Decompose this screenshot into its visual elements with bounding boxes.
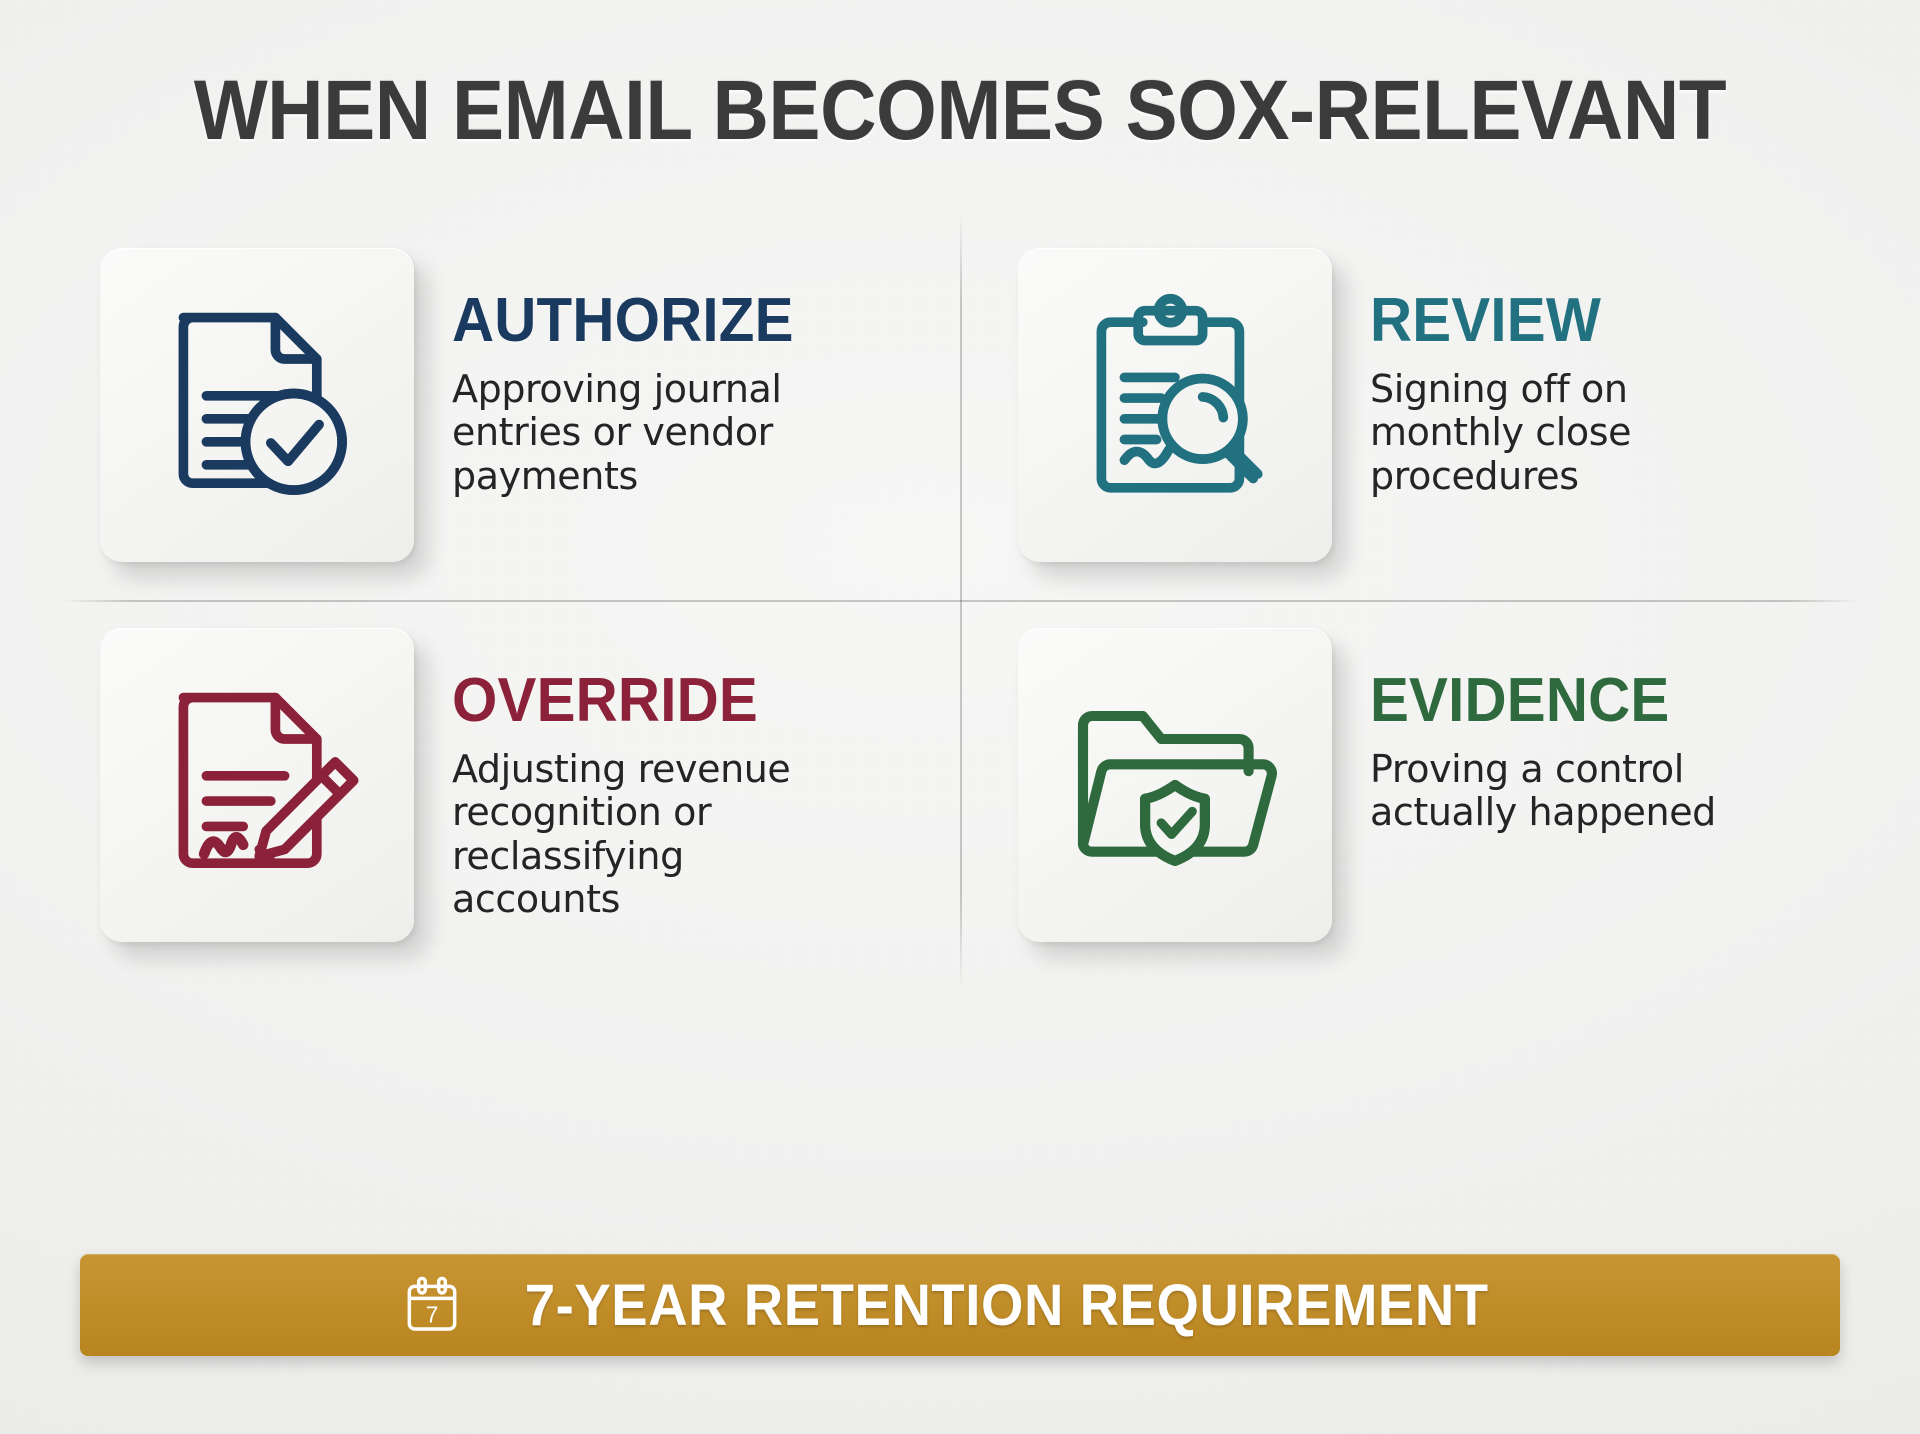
calendar-icon: 7 <box>400 1273 464 1337</box>
description-evidence: Proving a control actually happened <box>1370 748 1752 835</box>
svg-text:7: 7 <box>426 1301 439 1327</box>
icon-tile-authorize <box>100 248 414 562</box>
page-title: WHEN EMAIL BECOMES SOX-RELEVANT <box>67 62 1853 159</box>
folder-shield-check-icon <box>1060 670 1290 900</box>
quadrant-override: OVERRIDE Adjusting revenue recognition o… <box>70 600 960 980</box>
quadrant-evidence: EVIDENCE Proving a control actually happ… <box>960 600 1850 980</box>
icon-tile-override <box>100 628 414 942</box>
retention-banner: 7 7-YEAR RETENTION REQUIREMENT <box>80 1254 1840 1356</box>
quadrant-grid: AUTHORIZE Approving journal entries or v… <box>70 220 1850 980</box>
document-check-icon <box>142 290 372 520</box>
text-block-evidence: EVIDENCE Proving a control actually happ… <box>1332 628 1752 835</box>
quadrant-review: REVIEW Signing off on monthly close proc… <box>960 220 1850 600</box>
document-pencil-signature-icon <box>142 670 372 900</box>
text-block-authorize: AUTHORIZE Approving journal entries or v… <box>414 248 834 498</box>
description-override: Adjusting revenue recognition or reclass… <box>452 748 834 921</box>
clipboard-magnifier-icon <box>1060 290 1290 520</box>
icon-tile-review <box>1018 248 1332 562</box>
heading-override: OVERRIDE <box>452 670 811 732</box>
text-block-override: OVERRIDE Adjusting revenue recognition o… <box>414 628 834 921</box>
banner-label: 7-YEAR RETENTION REQUIREMENT <box>525 1272 1489 1339</box>
heading-authorize: AUTHORIZE <box>452 290 811 352</box>
text-block-review: REVIEW Signing off on monthly close proc… <box>1332 248 1752 498</box>
icon-tile-evidence <box>1018 628 1332 942</box>
quadrant-authorize: AUTHORIZE Approving journal entries or v… <box>70 220 960 600</box>
infographic-page: WHEN EMAIL BECOMES SOX-RELEVANT <box>0 0 1920 1434</box>
description-authorize: Approving journal entries or vendor paym… <box>452 368 834 498</box>
heading-evidence: EVIDENCE <box>1370 670 1729 732</box>
description-review: Signing off on monthly close procedures <box>1370 368 1752 498</box>
heading-review: REVIEW <box>1370 290 1729 352</box>
